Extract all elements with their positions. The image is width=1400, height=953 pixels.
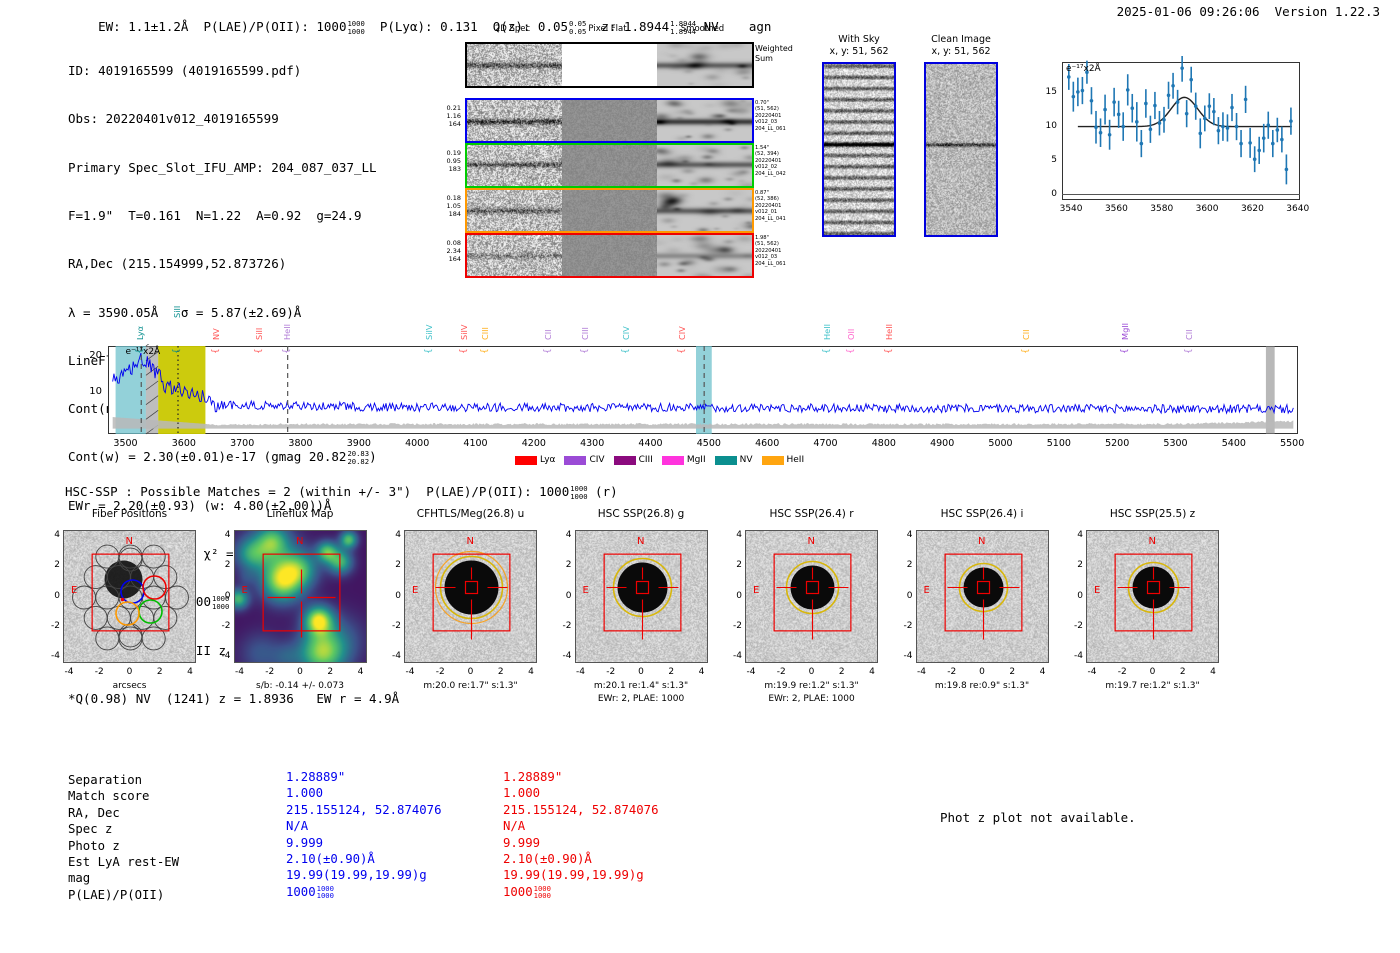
- spectrum-xtick: 4100: [458, 438, 494, 449]
- compass-e-1: E: [242, 585, 248, 596]
- compass-n-4: N: [808, 536, 815, 547]
- line-brace-SiIV-5: {: [424, 348, 434, 354]
- thumb-ytick: -2: [726, 621, 742, 631]
- line-brace-CII-8: {: [543, 348, 553, 354]
- spec2d-smooth-0: [657, 100, 752, 141]
- spectrum-xtick: 5400: [1216, 438, 1252, 449]
- legend-swatch-CIV: [564, 456, 586, 465]
- cutout-title-1: Clean Imagex, y: 51, 562: [904, 34, 1018, 58]
- thumb-overlay-2: [405, 531, 537, 663]
- match-value-c2-3: N/A: [503, 818, 525, 834]
- full-spectrum-plot: 3500360037003800390040004100420043004400…: [78, 344, 1300, 436]
- clean-image: [924, 62, 998, 237]
- line-label-HeII-12: HeII: [822, 324, 832, 340]
- spectrum-xtick: 5300: [1158, 438, 1194, 449]
- match-value-c1-7: 100010001000: [286, 884, 334, 900]
- spec2d-smooth-1: [657, 145, 752, 186]
- legend-swatch-MgII: [662, 456, 684, 465]
- thumb-overlay-6: [1087, 531, 1219, 663]
- legend-label-MgII: MgII: [687, 455, 706, 465]
- compass-e-0: E: [71, 585, 77, 596]
- thumb-image-3[interactable]: [575, 530, 708, 663]
- spec2d-row-meta-2: 0.87" (52, 386) 20220401 v012_01 204_LL_…: [755, 190, 786, 222]
- spec2d-row-values-2: 0.181.05184: [423, 194, 461, 218]
- thumb-xtick: -2: [942, 667, 962, 677]
- line-profile-svg: [1032, 56, 1304, 224]
- line-brace-Lyα-0: {: [135, 348, 145, 354]
- thumb-xtick: 0: [802, 667, 822, 677]
- thumb-image-4[interactable]: [745, 530, 878, 663]
- spectrum-band-4: [1266, 346, 1275, 434]
- spec2d-fiber-row-0: [465, 98, 754, 143]
- legend-swatch-HeII: [762, 456, 784, 465]
- match-value-c1-5: 2.10(±0.90)Å: [286, 851, 375, 867]
- line-label-CII-17: CII: [1184, 329, 1194, 340]
- thumb-sub1-6: m:19.7 re:1.2" s:1.3": [1056, 681, 1249, 693]
- thumb-ytick: -4: [1067, 651, 1083, 661]
- thumb-overlay-1: [235, 531, 367, 663]
- thumb-xtick: 2: [832, 667, 852, 677]
- thumb-ytick: 0: [385, 591, 401, 601]
- spectrum-xtick: 4300: [574, 438, 610, 449]
- spectrum-xtick: 4500: [691, 438, 727, 449]
- lp-xtick: 3600: [1191, 204, 1223, 214]
- thumb-title-1: Lineflux Map: [204, 508, 397, 520]
- match-value-c1-6: 19.99(19.99,19.99)g: [286, 867, 427, 883]
- spec2d-spec-2: [467, 190, 562, 231]
- thumb-ytick: -2: [215, 621, 231, 631]
- legend-item-Lyα: Lyα: [515, 455, 555, 465]
- info-lambda: λ = 3590.05Å σ = 5.87(±2.69)Å: [68, 305, 399, 321]
- thumb-ytick: 4: [897, 530, 913, 540]
- thumb-xtick: 0: [1143, 667, 1163, 677]
- lp-flux-unit-annotation: e⁻¹⁷x2Å: [1066, 64, 1101, 74]
- spec2d-row-values-0: 0.211.16164: [423, 104, 461, 128]
- thumb-overlay-5: [917, 531, 1049, 663]
- match-row-label-7: P(LAE)/P(OII): [68, 887, 164, 903]
- thumb-title-2: CFHTLS/Meg(26.8) u: [374, 508, 567, 520]
- line-brace-CIV-10: {: [621, 348, 631, 354]
- hsc-plae-fraction: 10001000: [570, 485, 587, 500]
- spectrum-ytick: 20: [78, 350, 102, 361]
- thumb-sub1-2: m:20.0 re:1.7" s:1.3": [374, 681, 567, 693]
- info-id: ID: 4019165599 (4019165599.pdf): [68, 63, 399, 79]
- thumb-ytick: 2: [385, 560, 401, 570]
- line-label-SiII-1: SiII: [172, 306, 182, 318]
- thumb-ytick: -4: [385, 651, 401, 661]
- line-brace-NV-2: {: [211, 348, 221, 354]
- legend-swatch-NV: [715, 456, 737, 465]
- thumb-ytick: 2: [556, 560, 572, 570]
- line-brace-SiII-1: {: [172, 348, 182, 354]
- match-value-c2-6: 19.99(19.99,19.99)g: [503, 867, 644, 883]
- thumb-image-5[interactable]: [916, 530, 1049, 663]
- thumb-title-3: HSC SSP(26.8) g: [545, 508, 738, 520]
- spec2d-summary-strip: [465, 42, 754, 88]
- spectrum-xtick: 4000: [399, 438, 435, 449]
- info-radec: RA,Dec (215.154999,52.873726): [68, 256, 399, 272]
- lp-ytick: 10: [1034, 121, 1057, 131]
- thumb-xtick: -2: [771, 667, 791, 677]
- thumb-image-2[interactable]: [404, 530, 537, 663]
- legend-item-NV: NV: [715, 455, 753, 465]
- match-row-label-1: Match score: [68, 788, 149, 804]
- info-primary-spec: Primary Spec_Slot_IFU_AMP: 204_087_037_L…: [68, 160, 399, 176]
- spectrum-xtick: 5100: [1041, 438, 1077, 449]
- header-version-block: 2025-01-06 09:26:06 Version 1.22.3: [1117, 4, 1380, 19]
- line-label-CII-15: CII: [1021, 329, 1031, 340]
- match-value-c2-4: 9.999: [503, 835, 540, 851]
- thumb-xtick: -4: [400, 667, 420, 677]
- thumb-xtick: -2: [1112, 667, 1132, 677]
- spectrum-xtick: 3700: [224, 438, 260, 449]
- spec2d-fiber-row-3: [465, 233, 754, 278]
- thumb-xtick: -4: [912, 667, 932, 677]
- thumb-ytick: -2: [1067, 621, 1083, 631]
- line-label-MgII-16: MgII: [1120, 323, 1130, 340]
- line-label-CIII-9: CIII: [580, 327, 590, 340]
- thumb-ytick: 0: [556, 591, 572, 601]
- thumb-ytick: 4: [726, 530, 742, 540]
- thumb-sub1-4: m:19.9 re:1.2" s:1.3": [715, 681, 908, 693]
- spec2d-fiber-row-1: [465, 143, 754, 188]
- spec2d-flat-3: [562, 235, 657, 276]
- spec2d-row-meta-3: 1.98" (51, 562) 20220401 v012_03 204_LL_…: [755, 235, 786, 267]
- legend-swatch-CIII: [614, 456, 636, 465]
- thumb-xtick: 2: [1002, 667, 1022, 677]
- thumb-ytick: 0: [44, 591, 60, 601]
- match-value-c1-1: 1.000: [286, 785, 323, 801]
- thumb-image-6[interactable]: [1086, 530, 1219, 663]
- spectrum-xtick: 5000: [983, 438, 1019, 449]
- thumb-overlay-4: [746, 531, 878, 663]
- match-value-c2-1: 1.000: [503, 785, 540, 801]
- cutout-coords-1: x, y: 51, 562: [904, 46, 1018, 58]
- match-row-label-5: Est LyA rest-EW: [68, 854, 179, 870]
- line-brace-OII-13: {: [846, 348, 856, 354]
- spec2d-row-meta-0: 0.70" (51, 562) 20220401 v012_03 204_LL_…: [755, 100, 786, 132]
- spectrum-xtick: 4600: [749, 438, 785, 449]
- thumb-xtick: 2: [1173, 667, 1193, 677]
- thumb-xtick: 0: [120, 667, 140, 677]
- spectrum-xtick: 3500: [108, 438, 144, 449]
- line-profile-plot: 354035603580360036203640051015e⁻¹⁷x2Å: [1032, 56, 1304, 224]
- line-brace-CIII-7: {: [480, 348, 490, 354]
- spec2d-column-title-1: Pixel Flat: [560, 24, 655, 34]
- thumb-xtick: -4: [571, 667, 591, 677]
- cutout-coords-0: x, y: 51, 562: [802, 46, 916, 58]
- thumb-ytick: 0: [726, 591, 742, 601]
- compass-n-1: N: [296, 536, 303, 547]
- info-fwhm: F=1.9" T=0.161 N=1.22 A=0.92 g=24.9: [68, 208, 399, 224]
- thumb-ytick: 2: [44, 560, 60, 570]
- thumb-ytick: 0: [897, 591, 913, 601]
- spec2d-flat-2: [562, 190, 657, 231]
- thumb-xtick: 4: [692, 667, 712, 677]
- thumb-sub1-1: s/b: -0.14 +/- 0.073: [204, 681, 397, 693]
- thumb-xtick: 4: [180, 667, 200, 677]
- line-brace-HeII-4: {: [282, 348, 292, 354]
- compass-n-2: N: [467, 536, 474, 547]
- line-brace-SiII-3: {: [254, 348, 264, 354]
- compass-n-3: N: [637, 536, 644, 547]
- thumb-ytick: 2: [897, 560, 913, 570]
- spec2d-row-values-1: 0.190.95183: [423, 149, 461, 173]
- match-value-c2-7: 100010001000: [503, 884, 551, 900]
- thumb-xtick: -4: [230, 667, 250, 677]
- thumb-ytick: 2: [1067, 560, 1083, 570]
- weighted-sum-label: Weighted Sum: [755, 44, 793, 63]
- line-brace-CII-17: {: [1184, 348, 1194, 354]
- match-plae-fraction-c2: 10001000: [534, 885, 551, 900]
- spectrum-xtick: 3600: [166, 438, 202, 449]
- thumb-sub2-4: EWr: 2, PLAE: 1000: [715, 694, 908, 706]
- spec2d-summary-spec: [467, 44, 562, 86]
- lp-xtick: 3580: [1146, 204, 1178, 214]
- cutout-title-0: With Skyx, y: 51, 562: [802, 34, 916, 58]
- version-label: Version 1.22.3: [1275, 4, 1380, 19]
- spec2d-summary-flat: [562, 44, 657, 86]
- info-cont-w: Cont(w) = 2.30(±0.01)e-17 (gmag 20.8220.…: [68, 449, 399, 465]
- thumb-xtick: -2: [260, 667, 280, 677]
- thumb-ytick: -2: [44, 621, 60, 631]
- line-brace-MgII-16: {: [1120, 348, 1130, 354]
- hsc-section-header: HSC-SSP : Possible Matches = 2 (within +…: [65, 484, 618, 500]
- thumb-xtick: 0: [631, 667, 651, 677]
- info-q-line: *Q(0.98) NV (1241) z = 1.8936 EW r = 4.9…: [68, 691, 399, 707]
- spectrum-ytick: 10: [78, 386, 102, 397]
- compass-n-6: N: [1149, 536, 1156, 547]
- line-brace-SiIV-6: {: [459, 348, 469, 354]
- thumb-xtick: -2: [601, 667, 621, 677]
- lp-xtick: 3540: [1055, 204, 1087, 214]
- lp-ytick: 0: [1034, 189, 1057, 199]
- spectrum-xtick: 4700: [808, 438, 844, 449]
- spec2d-row-meta-1: 1.54" (52, 394) 20220401 v012_02 204_LL_…: [755, 145, 786, 177]
- line-label-Lyα-0: Lyα: [135, 326, 145, 340]
- thumb-ytick: -2: [897, 621, 913, 631]
- thumb-xtick: 0: [290, 667, 310, 677]
- header-agn: agn: [749, 19, 772, 34]
- thumb-title-0: Fiber Positions: [33, 508, 226, 520]
- line-label-HeII-14: HeII: [884, 324, 894, 340]
- thumb-sub1-3: m:20.1 re:1.4" s:1.3": [545, 681, 738, 693]
- thumb-xtick: 2: [150, 667, 170, 677]
- compass-n-0: N: [126, 536, 133, 547]
- spectrum-xtick: 4900: [924, 438, 960, 449]
- thumb-ytick: 0: [215, 591, 231, 601]
- spectrum-xtick: 4400: [633, 438, 669, 449]
- thumb-xtick: 0: [972, 667, 992, 677]
- line-brace-CIII-9: {: [580, 348, 590, 354]
- match-row-label-2: RA, Dec: [68, 805, 120, 821]
- thumb-title-4: HSC SSP(26.4) r: [715, 508, 908, 520]
- thumb-xtick: 2: [320, 667, 340, 677]
- legend-item-CIII: CIII: [614, 455, 653, 465]
- thumb-ytick: 4: [215, 530, 231, 540]
- spec2d-smooth-3: [657, 235, 752, 276]
- with-sky-image: [822, 62, 896, 237]
- thumb-overlay-3: [576, 531, 708, 663]
- spec2d-row-values-3: 0.082.34164: [423, 239, 461, 263]
- thumb-xtick: 4: [1203, 667, 1223, 677]
- line-brace-CIV-11: {: [677, 348, 687, 354]
- match-row-label-4: Photo z: [68, 838, 120, 854]
- line-brace-HeII-12: {: [822, 348, 832, 354]
- legend-item-HeII: HeII: [762, 455, 805, 465]
- thumb-ytick: 0: [1067, 591, 1083, 601]
- legend-label-CIV: CIV: [589, 455, 604, 465]
- line-label-CIV-11: CIV: [677, 326, 687, 340]
- thumb-xtick: -4: [1082, 667, 1102, 677]
- thumb-ytick: -4: [215, 651, 231, 661]
- thumb-xtick: 4: [521, 667, 541, 677]
- thumb-xtick: -4: [59, 667, 79, 677]
- thumb-title-5: HSC SSP(26.4) i: [886, 508, 1079, 520]
- thumb-xtick: -2: [430, 667, 450, 677]
- match-value-c2-2: 215.155124, 52.874076: [503, 802, 658, 818]
- spec2d-flat-1: [562, 145, 657, 186]
- gmag-fraction: 20.8320.82: [347, 450, 369, 465]
- match-value-c1-4: 9.999: [286, 835, 323, 851]
- thumb-image-1[interactable]: [234, 530, 367, 663]
- match-value-c2-5: 2.10(±0.90)Å: [503, 851, 592, 867]
- line-label-CIII-7: CIII: [480, 327, 490, 340]
- match-value-c2-0: 1.28889": [503, 769, 562, 785]
- thumb-ytick: -4: [897, 651, 913, 661]
- thumb-xtick: -2: [89, 667, 109, 677]
- thumb-sub2-3: EWr: 2, PLAE: 1000: [545, 694, 738, 706]
- thumb-xtick: 0: [461, 667, 481, 677]
- line-label-HeII-4: HeII: [282, 324, 292, 340]
- thumb-image-0[interactable]: [63, 530, 196, 663]
- lp-ytick: 15: [1034, 87, 1057, 97]
- match-row-label-6: mag: [68, 870, 90, 886]
- compass-e-5: E: [924, 585, 930, 596]
- spectrum-xtick: 4200: [516, 438, 552, 449]
- thumb-ytick: 2: [726, 560, 742, 570]
- spec2d-column-title-2: Smoothed: [655, 24, 750, 34]
- cutout-title-text-1: Clean Image: [904, 34, 1018, 46]
- spec2d-column-title-0: 2D Spec: [465, 24, 560, 34]
- line-label-NV-2: NV: [211, 328, 221, 340]
- spectrum-xtick: 3800: [283, 438, 319, 449]
- line-label-SiIV-6: SiIV: [459, 325, 469, 341]
- thumb-xtick: 4: [351, 667, 371, 677]
- legend-item-MgII: MgII: [662, 455, 706, 465]
- spectrum-svg: [78, 344, 1300, 436]
- line-label-SiII-3: SiII: [254, 328, 264, 340]
- legend-label-Lyα: Lyα: [540, 455, 555, 465]
- thumb-xtick: 2: [491, 667, 511, 677]
- thumb-ytick: -4: [44, 651, 60, 661]
- thumb-overlay-0: [64, 531, 196, 663]
- compass-e-2: E: [412, 585, 418, 596]
- legend-label-CIII: CIII: [639, 455, 653, 465]
- thumb-ytick: -2: [556, 621, 572, 631]
- match-value-c1-3: N/A: [286, 818, 308, 834]
- lp-xtick: 3560: [1100, 204, 1132, 214]
- line-brace-HeII-14: {: [884, 348, 894, 354]
- match-row-label-0: Separation: [68, 772, 142, 788]
- thumb-sub1-5: m:19.8 re:0.9" s:1.3": [886, 681, 1079, 693]
- spec2d-spec-0: [467, 100, 562, 141]
- spec2d-summary-smooth: [657, 44, 752, 86]
- line-brace-CII-15: {: [1021, 348, 1031, 354]
- thumb-ytick: 4: [44, 530, 60, 540]
- spec2d-smooth-2: [657, 190, 752, 231]
- thumb-xtick: 4: [1033, 667, 1053, 677]
- spectrum-xtick: 3900: [341, 438, 377, 449]
- spectrum-xtick: 5200: [1099, 438, 1135, 449]
- match-plae-fraction-c1: 10001000: [317, 885, 334, 900]
- thumb-xtick: 4: [862, 667, 882, 677]
- legend-label-HeII: HeII: [787, 455, 805, 465]
- thumb-xtick: -4: [741, 667, 761, 677]
- match-value-c1-0: 1.28889": [286, 769, 345, 785]
- spec2d-flat-0: [562, 100, 657, 141]
- info-obs: Obs: 20220401v012_4019165599: [68, 111, 399, 127]
- thumb-ytick: -2: [385, 621, 401, 631]
- photoz-note: Phot z plot not available.: [940, 810, 1136, 825]
- spec2d-spec-1: [467, 145, 562, 186]
- thumb-ytick: 4: [385, 530, 401, 540]
- legend-label-NV: NV: [740, 455, 753, 465]
- legend-item-CIV: CIV: [564, 455, 604, 465]
- lp-ytick: 5: [1034, 155, 1057, 165]
- line-label-CIV-10: CIV: [621, 326, 631, 340]
- line-label-OII-13: OII: [846, 329, 856, 340]
- spectrum-xtick: 5500: [1274, 438, 1310, 449]
- thumb-ytick: 4: [556, 530, 572, 540]
- legend-swatch-Lyα: [515, 456, 537, 465]
- spec2d-fiber-row-2: [465, 188, 754, 233]
- lp-xtick: 3640: [1282, 204, 1314, 214]
- thumb-ytick: -4: [726, 651, 742, 661]
- match-row-label-3: Spec z: [68, 821, 112, 837]
- thumb-xtick: 2: [661, 667, 681, 677]
- line-label-CII-8: CII: [543, 329, 553, 340]
- compass-n-5: N: [978, 536, 985, 547]
- thumb-ytick: 4: [1067, 530, 1083, 540]
- compass-e-4: E: [753, 585, 759, 596]
- thumb-ytick: 2: [215, 560, 231, 570]
- thumb-ytick: -4: [556, 651, 572, 661]
- spectrum-xtick: 4800: [866, 438, 902, 449]
- cutout-title-text-0: With Sky: [802, 34, 916, 46]
- lp-xtick: 3620: [1236, 204, 1268, 214]
- match-value-c1-2: 215.155124, 52.874076: [286, 802, 441, 818]
- timestamp: 2025-01-06 09:26:06: [1117, 4, 1260, 19]
- spec2d-spec-3: [467, 235, 562, 276]
- thumb-sub1-0: arcsecs: [33, 681, 226, 693]
- line-label-SiIV-5: SiIV: [424, 325, 434, 341]
- compass-e-6: E: [1094, 585, 1100, 596]
- spectrum-legend: LyαCIVCIIIMgIINVHeII: [515, 455, 804, 465]
- compass-e-3: E: [583, 585, 589, 596]
- thumb-title-6: HSC SSP(25.5) z: [1056, 508, 1249, 520]
